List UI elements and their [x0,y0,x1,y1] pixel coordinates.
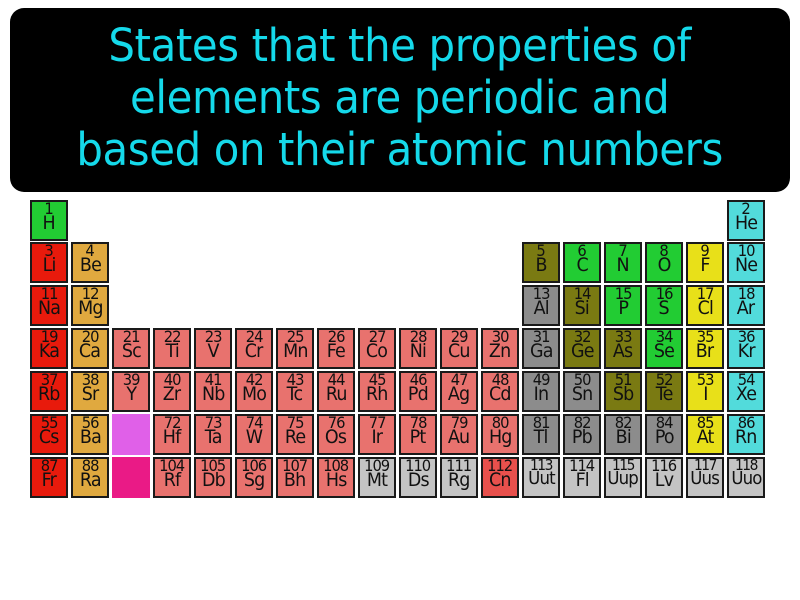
periodic-spacer [481,285,519,326]
periodic-cell-sb[interactable]: 51Sb [604,371,642,412]
periodic-cell-s[interactable]: 16S [645,285,683,326]
periodic-cell-co[interactable]: 27Co [358,328,396,369]
periodic-cell-y[interactable]: 39Y [112,371,150,412]
periodic-spacer [194,242,232,283]
element-symbol: Rg [448,471,470,489]
periodic-cell-ga[interactable]: 31Ga [522,328,560,369]
element-symbol: Sg [244,471,265,489]
element-symbol: Br [696,342,714,360]
periodic-spacer [440,242,478,283]
periodic-spacer [276,285,314,326]
periodic-cell-zn[interactable]: 30Zn [481,328,519,369]
element-symbol: Au [448,428,469,446]
element-symbol: Uup [608,470,639,487]
element-symbol: Lv [655,471,673,489]
periodic-cell-bi[interactable]: 82Bi [604,414,642,455]
periodic-spacer [153,200,191,241]
element-symbol: Rh [366,385,388,403]
periodic-cell-i[interactable]: 53I [686,371,724,412]
periodic-cell-ni[interactable]: 28Ni [399,328,437,369]
periodic-cell-o[interactable]: 8O [645,242,683,283]
periodic-cell-sg[interactable]: 106Sg [235,457,273,498]
element-symbol: Ra [80,471,101,489]
periodic-spacer [440,200,478,241]
element-symbol: I [703,385,707,403]
element-symbol: Po [655,428,674,446]
element-symbol: Ru [326,385,347,403]
periodic-spacer [112,285,150,326]
periodic-cell-uuo[interactable]: 118Uuo [727,457,765,498]
periodic-spacer [399,200,437,241]
periodic-cell-sc[interactable]: 21Sc [112,328,150,369]
periodic-cell-v[interactable]: 23V [194,328,232,369]
periodic-cell-lanthanide-series[interactable] [112,414,150,455]
periodic-cell-ir[interactable]: 77Ir [358,414,396,455]
element-symbol: Se [654,342,674,360]
periodic-cell-pb[interactable]: 82Pb [563,414,601,455]
element-symbol: C [576,256,587,274]
element-symbol: B [535,256,546,274]
periodic-cell-cd[interactable]: 48Cd [481,371,519,412]
periodic-spacer [112,242,150,283]
element-symbol: Cl [697,299,712,317]
periodic-cell-zr[interactable]: 40Zr [153,371,191,412]
periodic-spacer [563,200,601,241]
periodic-cell-na[interactable]: 11Na [30,285,68,326]
periodic-cell-ag[interactable]: 47Ag [440,371,478,412]
periodic-cell-rn[interactable]: 86Rn [727,414,765,455]
periodic-spacer [317,200,355,241]
element-symbol: Na [38,299,60,317]
periodic-cell-sn[interactable]: 50Sn [563,371,601,412]
periodic-spacer [399,285,437,326]
periodic-cell-pt[interactable]: 78Pt [399,414,437,455]
element-symbol: Re [285,428,305,446]
element-symbol: Mt [367,471,387,489]
periodic-cell-fe[interactable]: 26Fe [317,328,355,369]
periodic-cell-hf[interactable]: 72Hf [153,414,191,455]
element-symbol: Uut [528,470,555,487]
periodic-cell-kr[interactable]: 36Kr [727,328,765,369]
element-symbol: Nb [202,385,225,403]
element-symbol: Db [202,471,225,489]
periodic-cell-ra[interactable]: 88Ra [71,457,109,498]
element-symbol: Bh [284,471,305,489]
periodic-cell-fl[interactable]: 114Fl [563,457,601,498]
periodic-spacer [153,242,191,283]
periodic-cell-li[interactable]: 3Li [30,242,68,283]
periodic-spacer [481,242,519,283]
periodic-cell-p[interactable]: 15P [604,285,642,326]
periodic-row-period-4: 19Ka20Ca21Sc22Ti23V24Cr25Mn26Fe27Co28Ni2… [30,328,790,371]
element-symbol: W [246,428,262,446]
element-symbol: Pd [408,385,428,403]
element-symbol: Ti [165,342,178,360]
element-symbol: Hg [489,428,512,446]
element-symbol: P [618,299,628,317]
element-symbol: Sc [121,342,140,360]
element-symbol: Ca [79,342,100,360]
periodic-spacer [686,200,724,241]
periodic-cell-ka[interactable]: 19Ka [30,328,68,369]
periodic-cell-mg[interactable]: 12Mg [71,285,109,326]
element-symbol: Kr [737,342,754,360]
element-symbol: O [658,256,671,274]
element-symbol: Ta [205,428,222,446]
periodic-spacer [604,200,642,241]
periodic-cell-actinide-series[interactable] [112,457,150,498]
element-symbol: Sb [613,385,634,403]
periodic-row-period-7: 87Fr88Ra104Rf105Db106Sg107Bh108Hs109Mt11… [30,457,790,500]
periodic-spacer [276,200,314,241]
element-symbol: Si [575,299,589,317]
periodic-cell-re[interactable]: 75Re [276,414,314,455]
periodic-cell-tc[interactable]: 43Tc [276,371,314,412]
periodic-cell-tl[interactable]: 81Tl [522,414,560,455]
periodic-cell-uut[interactable]: 113Uut [522,457,560,498]
element-symbol: Ga [530,342,553,360]
periodic-cell-ba[interactable]: 56Ba [71,414,109,455]
periodic-spacer [399,242,437,283]
element-symbol: Ka [39,342,59,360]
element-symbol: In [534,385,549,403]
element-symbol: S [659,299,669,317]
element-symbol: Pb [572,428,592,446]
periodic-cell-si[interactable]: 14Si [563,285,601,326]
periodic-cell-hs[interactable]: 108Hs [317,457,355,498]
periodic-spacer [317,285,355,326]
element-symbol: Uus [691,470,720,487]
periodic-cell-ca[interactable]: 20Ca [71,328,109,369]
element-symbol: Sr [82,385,99,403]
element-symbol: Pt [410,428,426,446]
periodic-row-period-6: 55Cs56Ba72Hf73Ta74W75Re76Os77Ir78Pt79Au8… [30,414,790,457]
element-symbol: Te [656,385,673,403]
periodic-cell-ti[interactable]: 22Ti [153,328,191,369]
periodic-cell-f[interactable]: 9F [686,242,724,283]
element-symbol: At [697,428,714,446]
element-symbol: Tl [534,428,548,446]
element-symbol: Hs [326,471,347,489]
element-symbol: Cd [489,385,511,403]
periodic-cell-os[interactable]: 76Os [317,414,355,455]
element-symbol: Li [43,256,56,274]
element-symbol: Ba [79,428,100,446]
element-symbol: F [700,256,709,274]
element-symbol: Fe [327,342,345,360]
element-symbol: Sn [572,385,593,403]
definition-text: States that the properties of elements a… [77,20,724,175]
periodic-cell-fr[interactable]: 87Fr [30,457,68,498]
periodic-spacer [153,285,191,326]
periodic-spacer [276,242,314,283]
periodic-spacer [235,242,273,283]
periodic-cell-lv[interactable]: 116Lv [645,457,683,498]
element-symbol: Be [79,256,100,274]
element-symbol: Y [126,385,136,403]
periodic-cell-ge[interactable]: 32Ge [563,328,601,369]
element-symbol: Zn [489,342,510,360]
element-symbol: Mg [78,299,103,317]
periodic-cell-bh[interactable]: 107Bh [276,457,314,498]
definition-banner: States that the properties of elements a… [10,8,790,192]
periodic-cell-br[interactable]: 35Br [686,328,724,369]
periodic-cell-al[interactable]: 13Al [522,285,560,326]
periodic-row-period-5: 37Rb38Sr39Y40Zr41Nb42Mo43Tc44Ru45Rh46Pd4… [30,371,790,414]
periodic-cell-rb[interactable]: 37Rb [30,371,68,412]
element-symbol: Ir [372,428,383,446]
periodic-cell-cs[interactable]: 55Cs [30,414,68,455]
periodic-spacer [317,242,355,283]
periodic-spacer [440,285,478,326]
periodic-spacer [645,200,683,241]
periodic-cell-rh[interactable]: 45Rh [358,371,396,412]
periodic-table: 1H2He3Li4Be5B6C7N8O9F10Ne11Na12Mg13Al14S… [30,200,790,500]
periodic-cell-mt[interactable]: 109Mt [358,457,396,498]
element-symbol: Rb [38,385,60,403]
periodic-cell-uus[interactable]: 117Uus [686,457,724,498]
periodic-cell-cr[interactable]: 24Cr [235,328,273,369]
element-symbol: N [617,256,629,274]
element-symbol: Ar [737,299,754,317]
element-symbol: Hf [163,428,181,446]
periodic-cell-au[interactable]: 79Au [440,414,478,455]
element-symbol: Cn [489,471,511,489]
periodic-cell-mn[interactable]: 25Mn [276,328,314,369]
periodic-spacer [112,200,150,241]
element-symbol: Fr [42,471,56,489]
periodic-cell-xe[interactable]: 54Xe [727,371,765,412]
periodic-cell-in[interactable]: 49In [522,371,560,412]
periodic-cell-be[interactable]: 4Be [71,242,109,283]
periodic-cell-sr[interactable]: 38Sr [71,371,109,412]
periodic-cell-ru[interactable]: 44Ru [317,371,355,412]
periodic-spacer [358,200,396,241]
periodic-cell-ta[interactable]: 73Ta [194,414,232,455]
periodic-cell-ds[interactable]: 110Ds [399,457,437,498]
element-symbol: He [735,214,757,232]
element-symbol: V [207,342,218,360]
periodic-cell-pd[interactable]: 46Pd [399,371,437,412]
periodic-cell-at[interactable]: 85At [686,414,724,455]
periodic-spacer [235,200,273,241]
periodic-row-period-1: 1H2He [30,200,790,242]
periodic-cell-n[interactable]: 7N [604,242,642,283]
element-symbol: Ds [408,471,429,489]
periodic-cell-cu[interactable]: 29Cu [440,328,478,369]
element-symbol: Ni [410,342,426,360]
periodic-cell-ar[interactable]: 18Ar [727,285,765,326]
periodic-cell-po[interactable]: 84Po [645,414,683,455]
periodic-cell-hg[interactable]: 80Hg [481,414,519,455]
element-symbol: Os [325,428,346,446]
element-symbol: Rf [164,471,181,489]
element-symbol: Mo [242,385,266,403]
periodic-cell-db[interactable]: 105Db [194,457,232,498]
periodic-row-period-2: 3Li4Be5B6C7N8O9F10Ne [30,242,790,285]
periodic-spacer [522,200,560,241]
periodic-cell-mo[interactable]: 42Mo [235,371,273,412]
periodic-cell-b[interactable]: 5B [522,242,560,283]
periodic-cell-rg[interactable]: 111Rg [440,457,478,498]
periodic-spacer [235,285,273,326]
periodic-cell-se[interactable]: 34Se [645,328,683,369]
element-symbol: Ge [571,342,594,360]
periodic-cell-c[interactable]: 6C [563,242,601,283]
periodic-spacer [358,242,396,283]
periodic-cell-h[interactable]: 1H [30,200,68,241]
element-symbol: Cu [448,342,470,360]
element-symbol: Co [366,342,387,360]
element-symbol: H [43,214,55,232]
periodic-cell-te[interactable]: 52Te [645,371,683,412]
periodic-cell-uup[interactable]: 115Uup [604,457,642,498]
element-symbol: Al [533,299,548,317]
element-symbol: Bi [615,428,630,446]
periodic-cell-ne[interactable]: 10Ne [727,242,765,283]
element-symbol: Ag [448,385,469,403]
periodic-cell-nb[interactable]: 41Nb [194,371,232,412]
element-symbol: Xe [736,385,756,403]
element-symbol: Mn [283,342,308,360]
periodic-spacer [194,285,232,326]
periodic-spacer [71,200,109,241]
periodic-spacer [358,285,396,326]
element-symbol: As [613,342,632,360]
element-symbol: Cr [245,342,263,360]
element-symbol: Rn [735,428,757,446]
periodic-cell-cl[interactable]: 17Cl [686,285,724,326]
element-symbol: Ne [735,256,757,274]
periodic-cell-as[interactable]: 33As [604,328,642,369]
element-symbol: Cs [39,428,59,446]
periodic-cell-rf[interactable]: 104Rf [153,457,191,498]
periodic-row-period-3: 11Na12Mg13Al14Si15P16S17Cl18Ar [30,285,790,328]
element-symbol: Fl [575,471,588,489]
periodic-spacer [194,200,232,241]
periodic-cell-w[interactable]: 74W [235,414,273,455]
periodic-spacer [481,200,519,241]
periodic-cell-cn[interactable]: 112Cn [481,457,519,498]
element-symbol: Uuo [731,470,761,487]
element-symbol: Zr [163,385,181,403]
element-symbol: Tc [287,385,303,403]
periodic-cell-he[interactable]: 2He [727,200,765,241]
